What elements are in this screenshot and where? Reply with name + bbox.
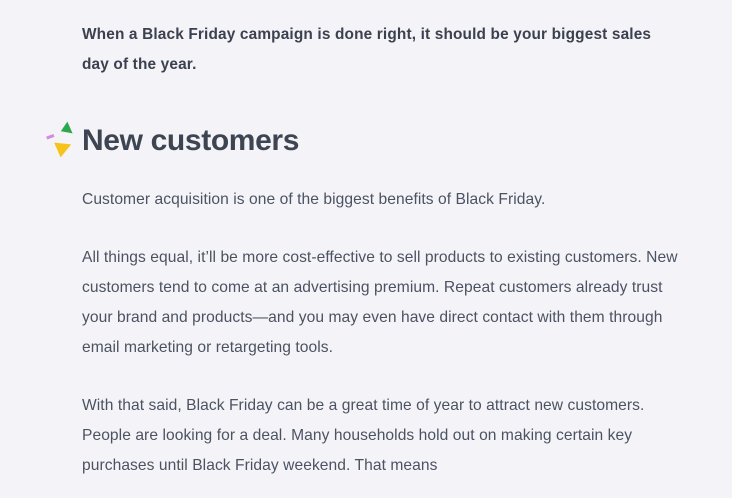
lead-paragraph: When a Black Friday campaign is done rig… — [82, 0, 678, 79]
article-scroll-region[interactable]: When a Black Friday campaign is done rig… — [0, 0, 732, 498]
article-content-column: When a Black Friday campaign is done rig… — [82, 0, 678, 481]
body-paragraph: All things equal, it’ll be more cost-eff… — [82, 215, 678, 363]
page-title: New customers — [82, 119, 678, 163]
sparkle-triangles-icon — [44, 117, 80, 163]
body-paragraph: With that said, Black Friday can be a gr… — [82, 363, 678, 481]
section-heading-row: New customers — [82, 119, 678, 165]
body-paragraph: Customer acquisition is one of the bigge… — [82, 165, 678, 215]
